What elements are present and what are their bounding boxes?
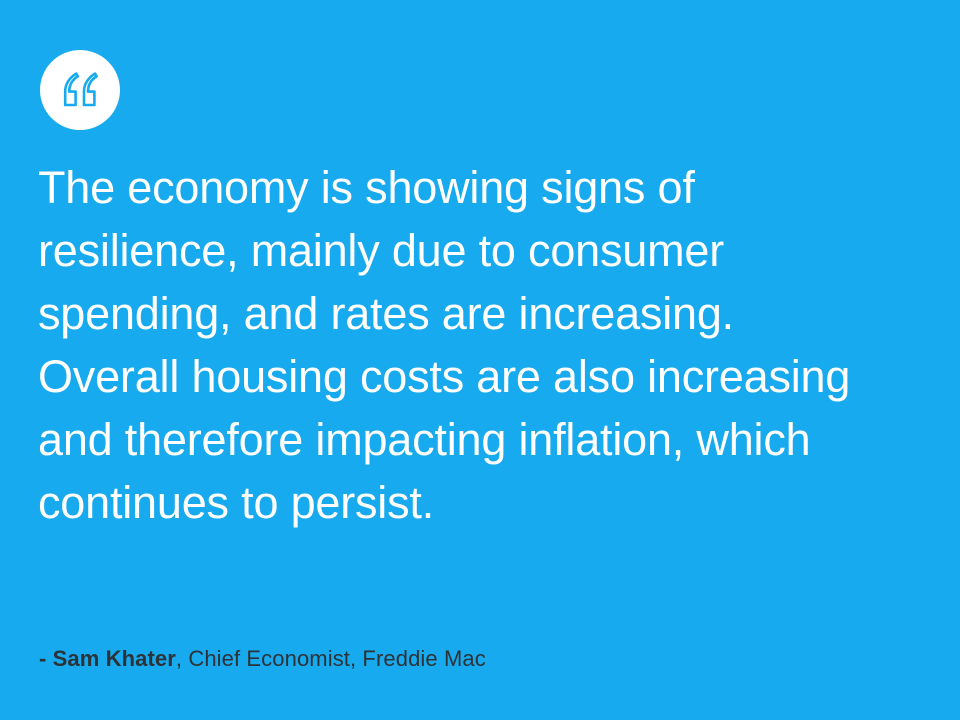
quote-attribution: - Sam Khater, Chief Economist, Freddie M…: [39, 645, 486, 673]
attribution-author: - Sam Khater: [39, 646, 176, 671]
quote-badge: [40, 50, 120, 130]
quotation-mark-icon: [58, 68, 102, 112]
quote-card: The economy is showing signs of resilien…: [0, 0, 960, 720]
quote-text: The economy is showing signs of resilien…: [38, 156, 858, 534]
attribution-role: , Chief Economist, Freddie Mac: [176, 646, 486, 671]
